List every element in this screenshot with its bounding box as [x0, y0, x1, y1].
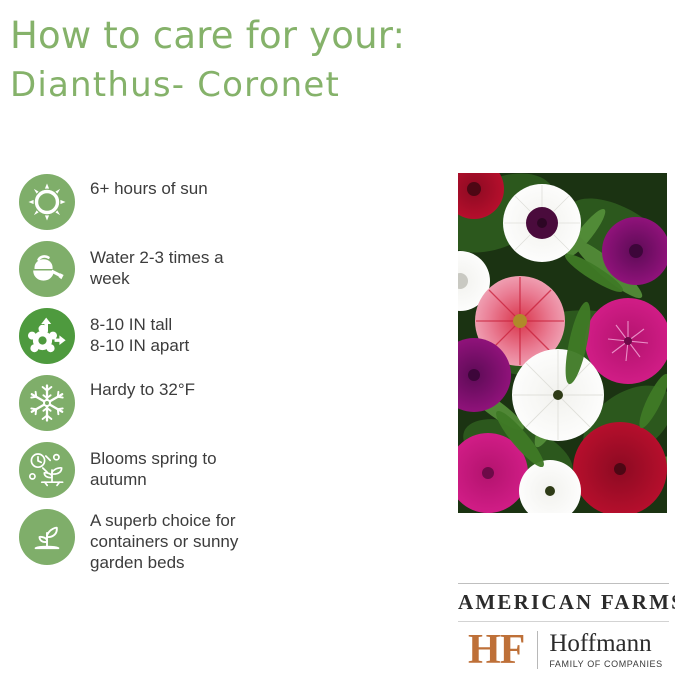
plant-photo [458, 173, 667, 513]
logo-divider-top [458, 583, 669, 584]
logo-divider-bottom [458, 621, 669, 622]
plant-spacing-icon [19, 308, 75, 364]
seedling-icon [19, 509, 75, 565]
dianthus-flowers-image [458, 173, 667, 513]
care-item-label: Hardy to 32°F [90, 375, 195, 400]
care-item-bloom-season: Blooms spring to autumn [19, 442, 319, 498]
brand-tagline: FAMILY OF COMPANIES [549, 658, 662, 670]
brand-hoffmann: Hoffmann [549, 630, 662, 657]
bloom-season-icon [19, 442, 75, 498]
hoffmann-names: Hoffmann FAMILY OF COMPANIES [549, 630, 662, 670]
brand-american-farms: AMERICAN FARMS [458, 589, 669, 615]
plant-care-list: 6+ hours of sun Water 2-3 times a week [19, 174, 319, 584]
page-title: How to care for your: Dianthus- Coronet [10, 14, 530, 106]
sun-icon [19, 174, 75, 230]
care-item-label: A superb choice for containers or sunny … [90, 509, 238, 573]
care-item-hardiness: Hardy to 32°F [19, 375, 319, 431]
hf-monogram: HF [468, 628, 524, 672]
care-item-label: Blooms spring to autumn [90, 442, 217, 490]
page-title-line2: Dianthus- Coronet [10, 64, 530, 106]
page-title-line1: How to care for your: [10, 14, 530, 58]
snowflake-icon [19, 375, 75, 431]
care-item-spacing: 8-10 IN tall 8-10 IN apart [19, 308, 319, 364]
care-item-label: 8-10 IN tall 8-10 IN apart [90, 308, 189, 356]
company-logo: AMERICAN FARMS HF Hoffmann FAMILY OF COM… [458, 583, 669, 672]
care-item-watering: Water 2-3 times a week [19, 241, 319, 297]
care-item-sunlight: 6+ hours of sun [19, 174, 319, 230]
care-item-label: Water 2-3 times a week [90, 241, 224, 289]
care-item-label: 6+ hours of sun [90, 174, 208, 199]
hoffmann-lockup: HF Hoffmann FAMILY OF COMPANIES [458, 628, 669, 672]
care-item-placement: A superb choice for containers or sunny … [19, 509, 319, 573]
watering-can-icon [19, 241, 75, 297]
monogram-divider [537, 631, 538, 669]
